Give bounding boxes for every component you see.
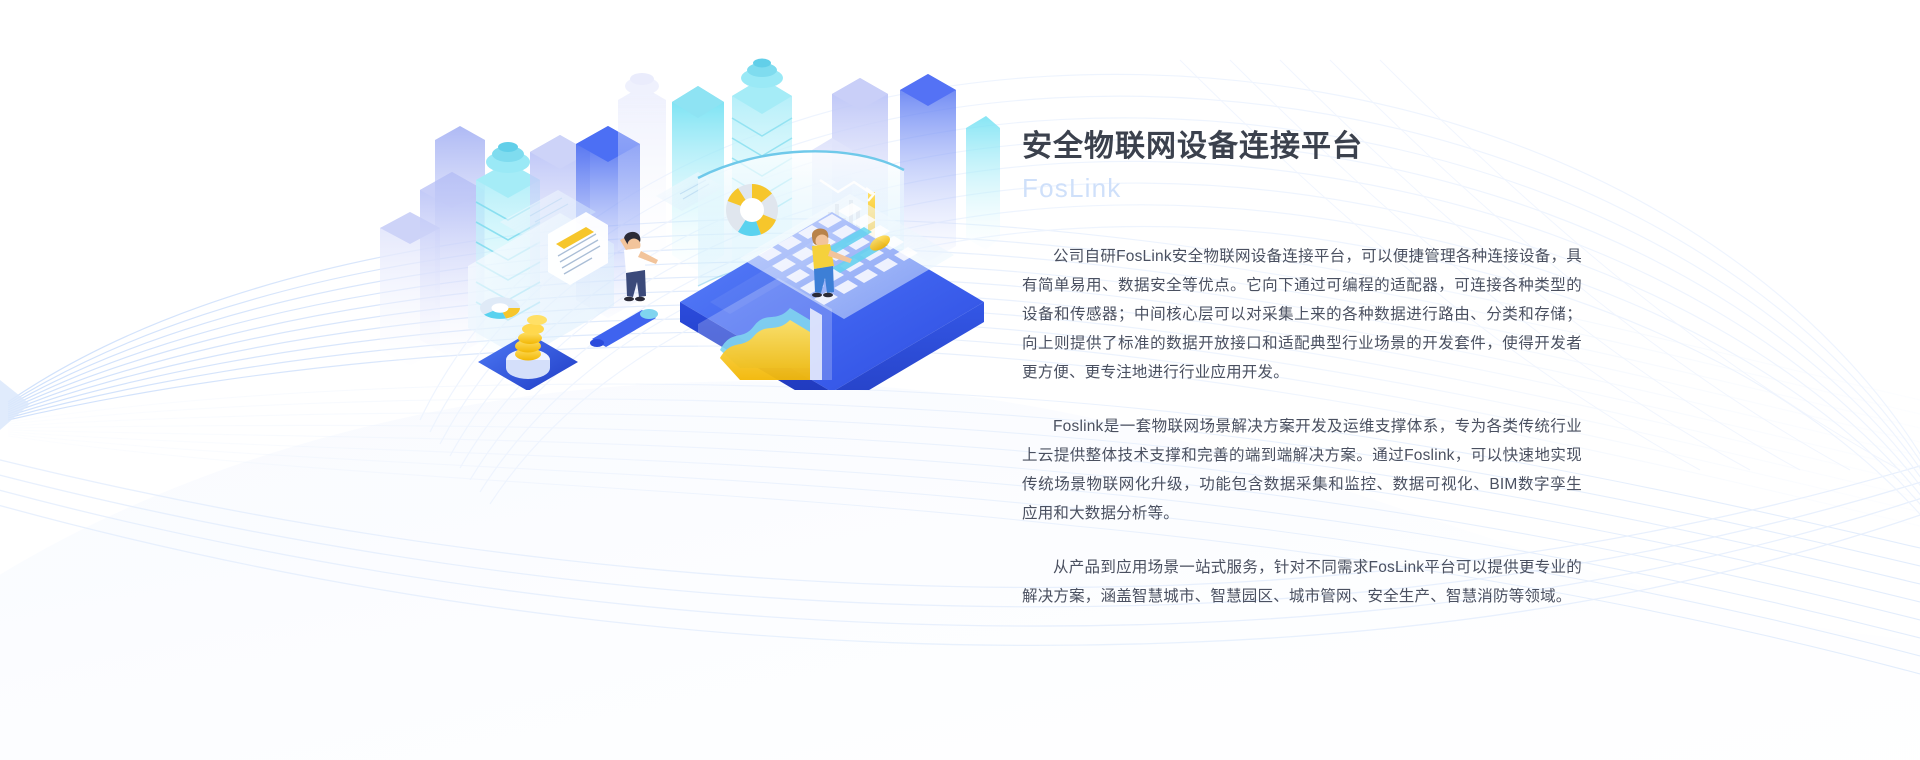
donut-chart-small: [480, 297, 520, 319]
description-paragraph-2: Foslink是一套物联网场景解决方案开发及运维支撑体系，专为各类传统行业上云提…: [1022, 412, 1582, 528]
product-name-subtitle: FosLink: [1022, 173, 1582, 204]
hero-text-column: 安全物联网设备连接平台 FosLink 公司自研FosLink安全物联网设备连接…: [1022, 128, 1582, 611]
connector-pipe: [590, 309, 658, 347]
description-paragraph-1: 公司自研FosLink安全物联网设备连接平台，可以便捷管理各种连接设备，具有简单…: [1022, 242, 1582, 387]
description-paragraph-3: 从产品到应用场景一站式服务，针对不同需求FosLink平台可以提供更专业的解决方…: [1022, 553, 1582, 611]
isometric-smart-city-illustration: [380, 50, 1000, 390]
page-title: 安全物联网设备连接平台: [1022, 128, 1582, 166]
description-block: 公司自研FosLink安全物联网设备连接平台，可以便捷管理各种连接设备，具有简单…: [1022, 242, 1582, 611]
hero-banner: 安全物联网设备连接平台 FosLink 公司自研FosLink安全物联网设备连接…: [0, 0, 1920, 760]
donut-chart-panel: [726, 184, 778, 236]
